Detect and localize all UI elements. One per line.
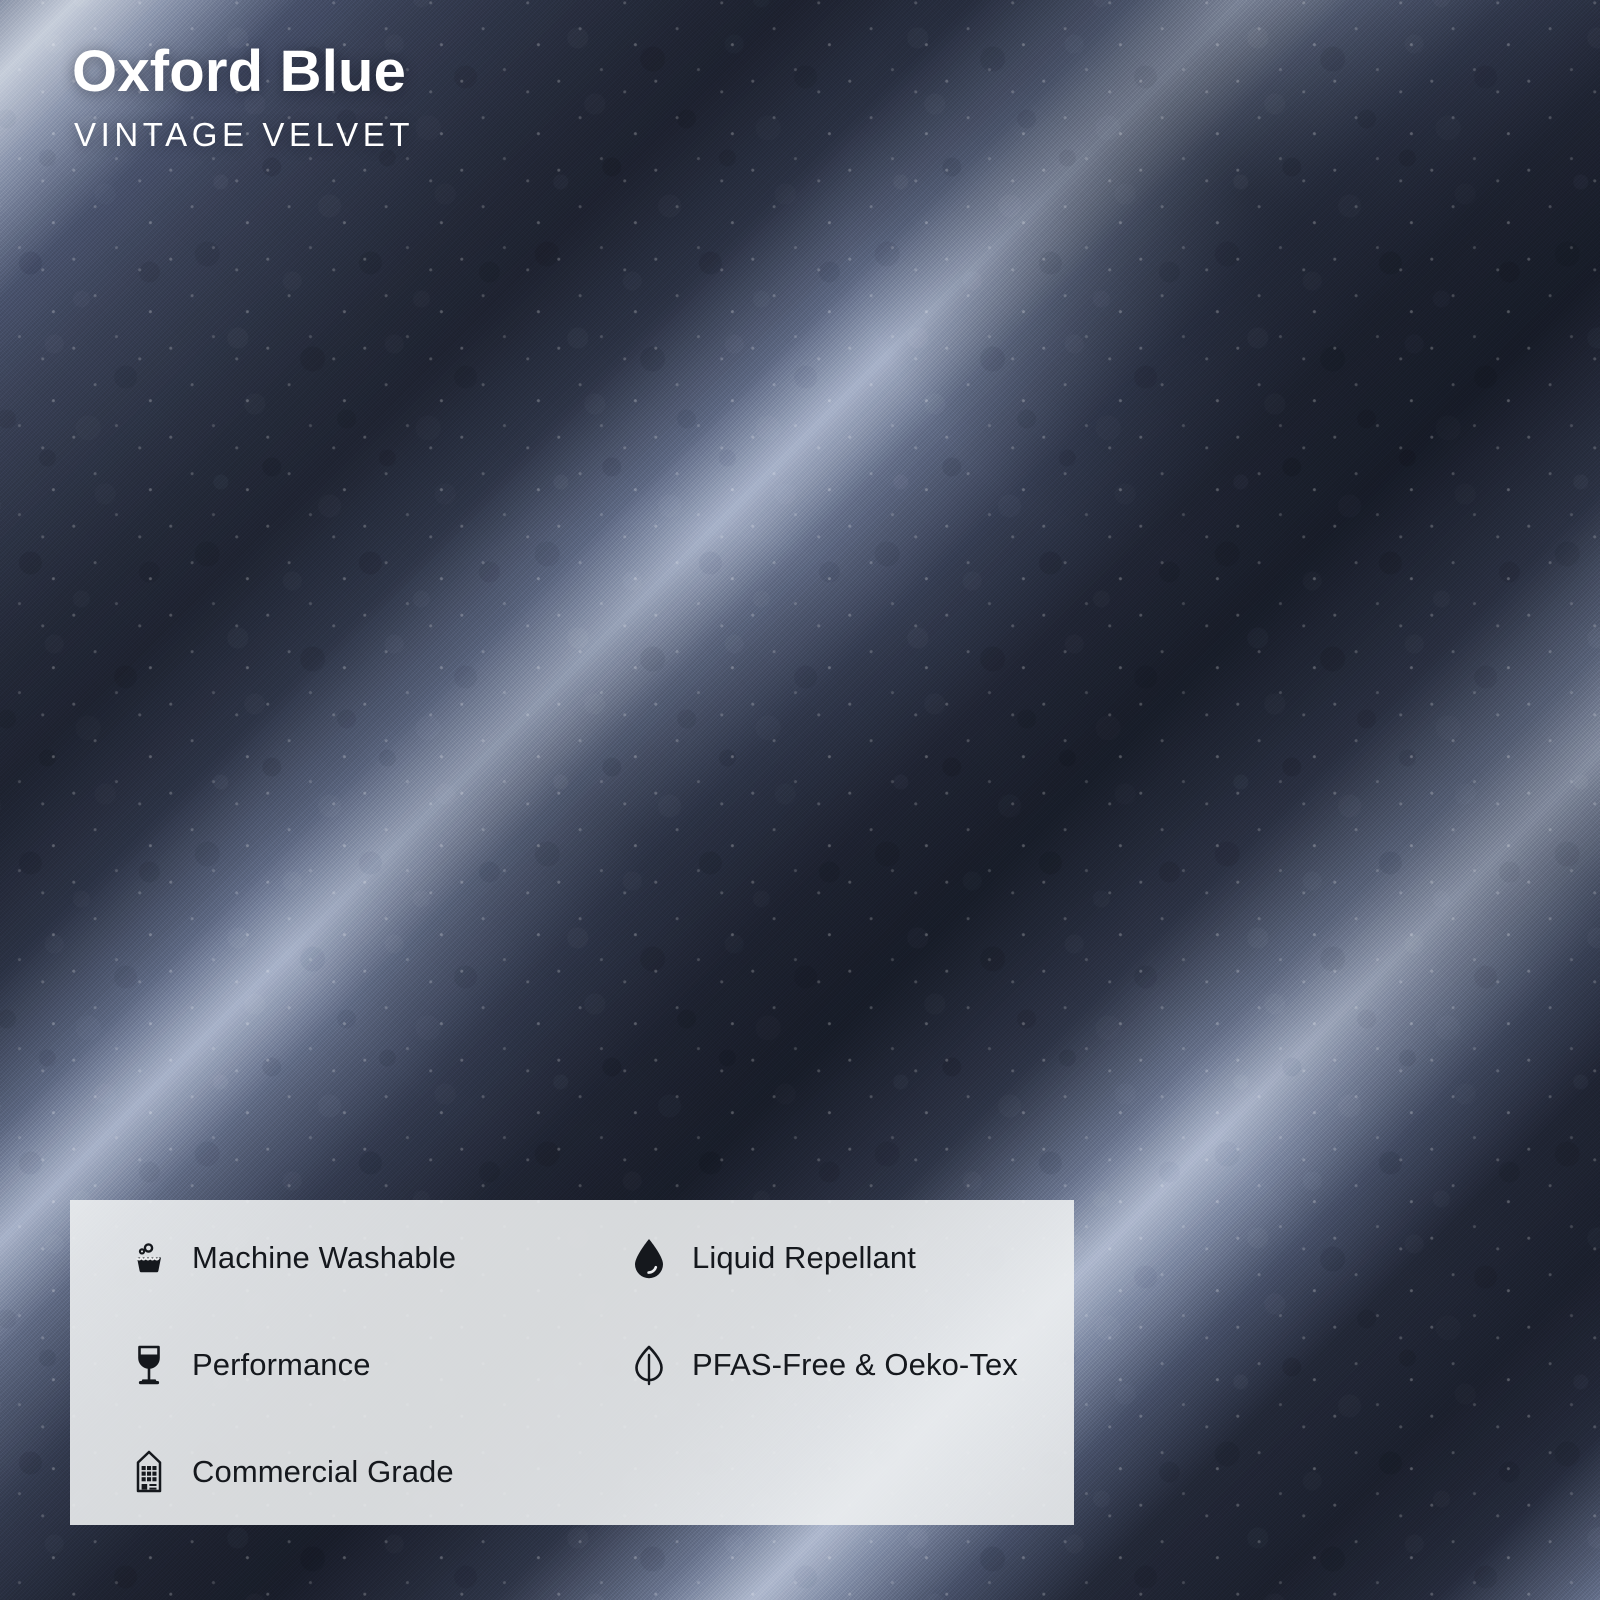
feature-item-machine-washable: Machine Washable <box>70 1204 570 1311</box>
feature-label: Commercial Grade <box>192 1454 454 1490</box>
leaf-icon <box>626 1342 672 1388</box>
product-title-block: Oxford Blue VINTAGE VELVET <box>72 42 414 153</box>
building-icon <box>126 1449 172 1495</box>
product-name: Oxford Blue <box>72 42 414 103</box>
feature-label: Performance <box>192 1347 371 1383</box>
feature-label: Machine Washable <box>192 1240 456 1276</box>
wash-basin-icon <box>126 1235 172 1281</box>
feature-item-commercial-grade: Commercial Grade <box>70 1418 570 1525</box>
feature-item-liquid-repellant: Liquid Repellant <box>570 1204 1074 1311</box>
fabric-swatch-card: Oxford Blue VINTAGE VELVET Machine Washa… <box>0 0 1600 1600</box>
product-collection: VINTAGE VELVET <box>74 117 414 153</box>
wine-glass-icon <box>126 1342 172 1388</box>
feature-item-pfas-free-oeko-tex: PFAS-Free & Oeko-Tex <box>570 1311 1074 1418</box>
water-droplet-icon <box>626 1235 672 1281</box>
feature-panel: Machine Washable Liquid Repellant <box>70 1200 1074 1525</box>
feature-label: Liquid Repellant <box>692 1240 916 1276</box>
feature-item-performance: Performance <box>70 1311 570 1418</box>
feature-label: PFAS-Free & Oeko-Tex <box>692 1347 1018 1383</box>
